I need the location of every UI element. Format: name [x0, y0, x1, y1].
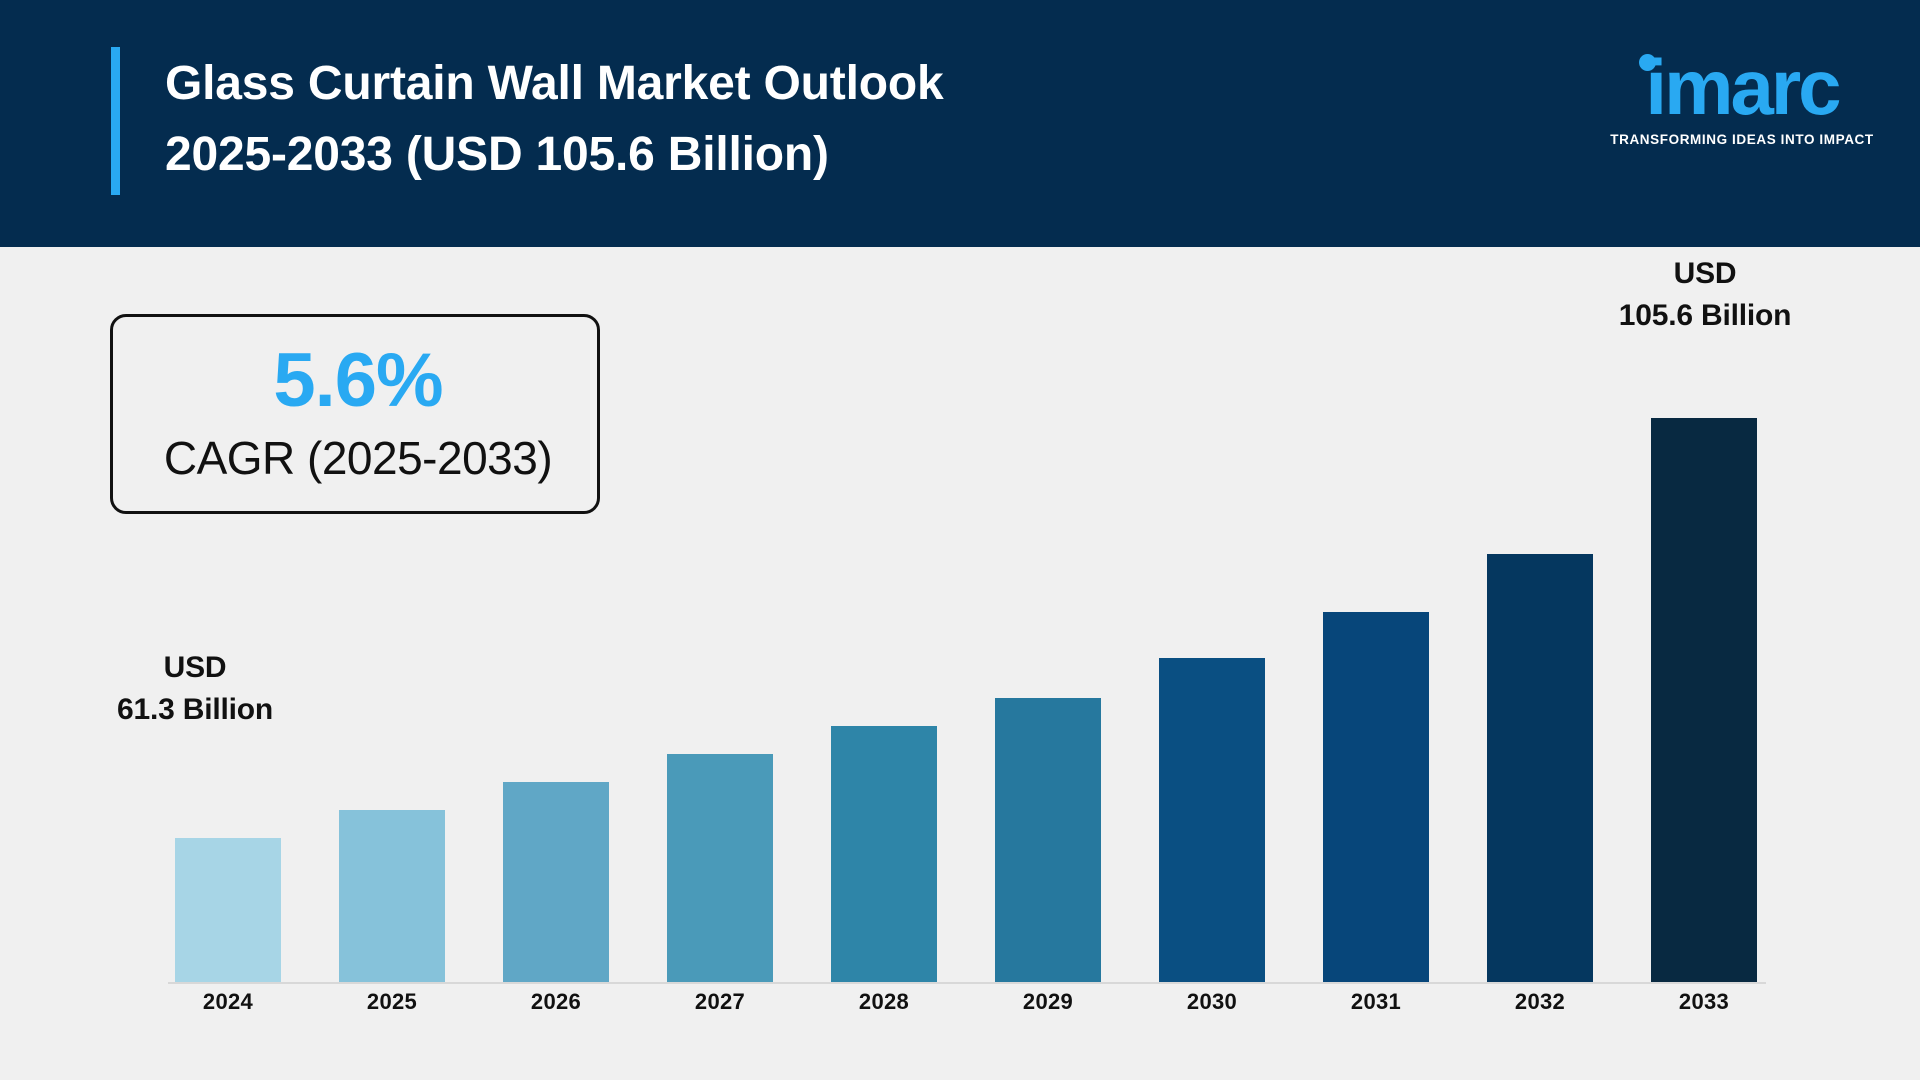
imarc-logo: imarc TRANSFORMING IDEAS INTO IMPACT: [1608, 52, 1876, 172]
logo-tagline: TRANSFORMING IDEAS INTO IMPACT: [1608, 132, 1876, 147]
bar-2029: [995, 698, 1101, 982]
bar-2024: [175, 838, 281, 982]
header-banner: Glass Curtain Wall Market Outlook 2025-2…: [0, 0, 1920, 247]
x-axis-label-2030: 2030: [1159, 989, 1265, 1015]
callout-end-value: USD 105.6 Billion: [1580, 253, 1830, 337]
bar-2031: [1323, 612, 1429, 982]
x-axis-label-2032: 2032: [1487, 989, 1593, 1015]
logo-dot-icon: [1639, 54, 1656, 71]
page-title: Glass Curtain Wall Market Outlook 2025-2…: [165, 48, 1465, 190]
x-axis-label-2033: 2033: [1651, 989, 1757, 1015]
x-axis-label-2027: 2027: [667, 989, 773, 1015]
bar-2025: [339, 810, 445, 982]
title-line-2: 2025-2033 (USD 105.6 Billion): [165, 119, 1465, 190]
content-area: 5.6% CAGR (2025-2033) 202420252026202720…: [0, 247, 1920, 1080]
callout-start-line1: USD: [70, 647, 320, 689]
bar-2032: [1487, 554, 1593, 982]
x-axis-label-2029: 2029: [995, 989, 1101, 1015]
callout-start-line2: 61.3 Billion: [70, 689, 320, 731]
bar-chart: 2024202520262027202820292030203120322033…: [0, 247, 1920, 1080]
callout-end-line2: 105.6 Billion: [1580, 295, 1830, 337]
bar-2026: [503, 782, 609, 982]
accent-bar: [111, 47, 120, 195]
x-axis-label-2031: 2031: [1323, 989, 1429, 1015]
infographic-page: Glass Curtain Wall Market Outlook 2025-2…: [0, 0, 1920, 1080]
chart-baseline-axis: [168, 982, 1766, 984]
bar-2030: [1159, 658, 1265, 982]
bar-2028: [831, 726, 937, 982]
x-axis-label-2024: 2024: [175, 989, 281, 1015]
callout-start-value: USD 61.3 Billion: [70, 647, 320, 731]
x-axis-label-2028: 2028: [831, 989, 937, 1015]
logo-mark: imarc: [1608, 52, 1876, 134]
bar-2033: [1651, 418, 1757, 982]
x-axis-label-2026: 2026: [503, 989, 609, 1015]
bar-2027: [667, 754, 773, 982]
x-axis-label-2025: 2025: [339, 989, 445, 1015]
title-line-1: Glass Curtain Wall Market Outlook: [165, 48, 1465, 119]
callout-end-line1: USD: [1580, 253, 1830, 295]
